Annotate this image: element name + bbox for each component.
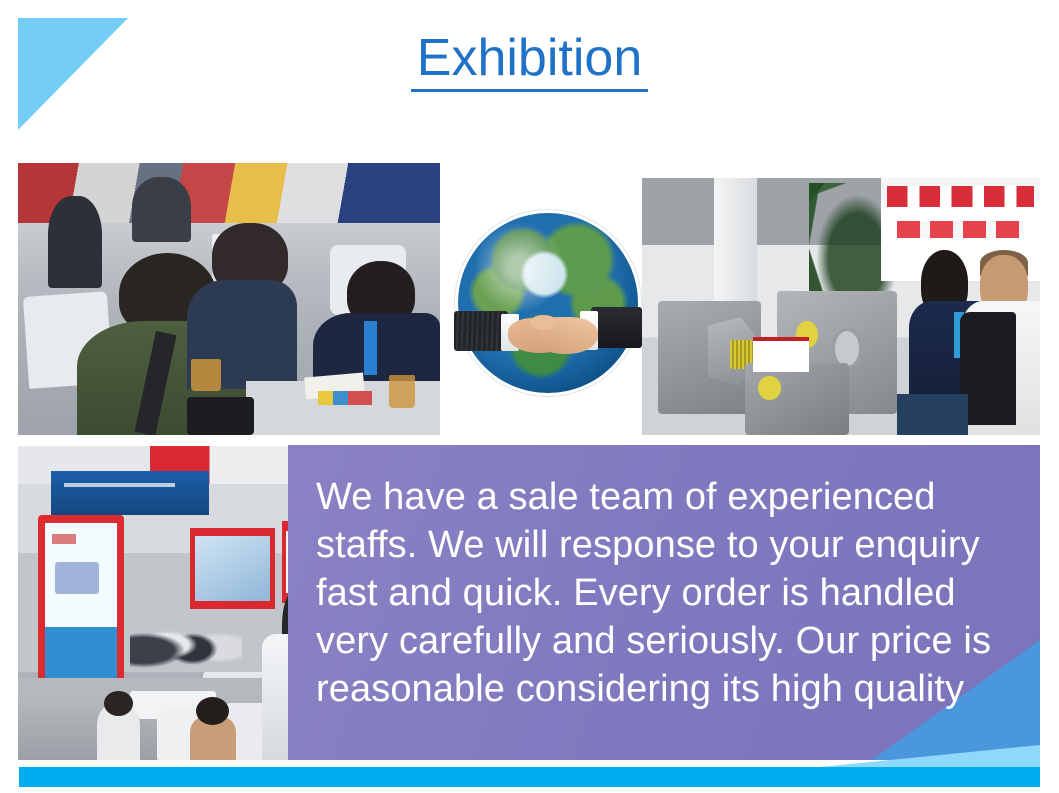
product-label-card	[753, 337, 809, 372]
bottom-blue-bar	[19, 767, 1040, 787]
description-text: We have a sale team of experienced staff…	[316, 473, 1014, 713]
standee-artwork	[45, 523, 117, 702]
page-title: Exhibition	[411, 30, 648, 92]
person-background-1	[48, 196, 103, 288]
drink-cup-1	[191, 359, 221, 392]
booth-name-banner	[51, 471, 209, 515]
hydraulic-pump-3	[745, 363, 848, 435]
globe-handshake-photo	[458, 213, 638, 393]
handshake-icon	[458, 307, 638, 379]
hydraulic-pump-display-photo	[642, 178, 1040, 435]
trade-show-meeting-photo	[18, 163, 440, 435]
pump-yellow-cap	[758, 376, 781, 400]
slide-canvas: Exhibition	[0, 0, 1059, 793]
title-container: Exhibition	[0, 30, 1059, 92]
globe-icon	[458, 213, 638, 393]
brochures-on-table	[318, 391, 373, 405]
visitor-jeans	[897, 394, 969, 435]
photo-content	[642, 178, 1040, 435]
visitor-backpack	[960, 312, 1016, 425]
person-background-2	[132, 177, 191, 242]
crowd-of-visitors	[130, 609, 242, 678]
description-panel: We have a sale team of experienced staff…	[288, 445, 1040, 760]
thumb	[530, 315, 557, 329]
drink-cup-2	[389, 375, 414, 408]
black-bag	[187, 397, 255, 435]
photo-content	[18, 163, 440, 435]
display-screen-1	[190, 528, 276, 610]
suit-sleeve-right	[591, 307, 641, 349]
badge-lanyard	[364, 321, 377, 375]
